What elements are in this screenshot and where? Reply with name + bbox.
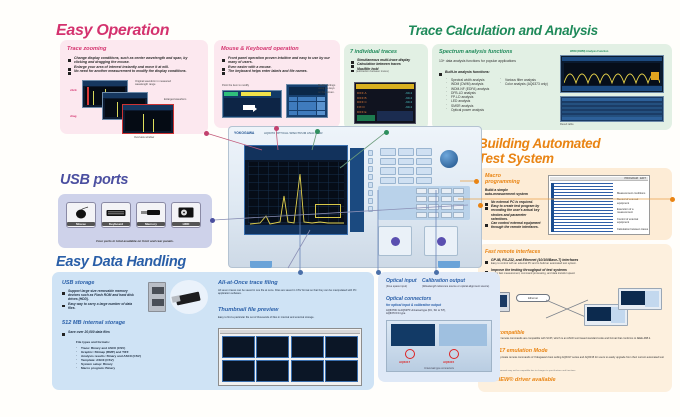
caption-modify-settings: Modify settings using the keys on the sc… <box>318 84 338 94</box>
subnote-subtraction: (subtraction between traces) <box>356 70 389 73</box>
mouse-icon <box>73 203 89 222</box>
photo-caption: Universal type connectors <box>387 367 491 370</box>
connector-dot <box>384 130 389 135</box>
screenshot-enlarged-waveform <box>122 104 174 134</box>
card-7-individual-traces: 7 individual traces Simultaneous multi-t… <box>344 44 428 130</box>
caption-overview-window: Overview window <box>134 136 154 139</box>
usb-label: Memory <box>137 222 165 226</box>
bullet: No need for another measurement to modif… <box>68 69 200 73</box>
diagram-network: Ethernet <box>484 284 668 328</box>
instrument-brand: YOKOGAWA <box>234 131 254 135</box>
section-title-easy-data-handling: Easy Data Handling <box>56 254 186 270</box>
brochure-page: Easy Operation Trace zooming Change disp… <box>0 0 680 417</box>
body-aq6317-emulation: Supports the private remote commands of … <box>485 356 665 363</box>
card-title-mouse-keyboard: Mouse & Keyboard operation <box>221 46 299 52</box>
usb-label: Keyboard <box>102 222 130 226</box>
card-title-remote-interfaces: Fast remote interfaces <box>485 249 540 255</box>
connector-dot <box>376 270 381 275</box>
bullet: Front panel operation proven intuitive a… <box>222 56 334 65</box>
section-title-usb-ports: USB ports <box>60 172 128 188</box>
calibration-output-port <box>424 226 458 256</box>
card-optical-connectors: Optical input (Free space input) Calibra… <box>378 272 500 382</box>
sub-calibration-output: (Wavelength reference source or optical … <box>422 285 492 288</box>
instrument-model: AQ6370 OPTICAL SPECTRUM ANALYZER <box>264 131 323 135</box>
connector-dot <box>274 126 279 131</box>
caption-point-item: Point the item to modify <box>222 84 249 87</box>
caption-click: click <box>70 88 77 92</box>
photo-usb-stick <box>170 280 208 314</box>
connector-dot <box>315 129 320 134</box>
code-annotation: Measurement conditions <box>617 192 649 195</box>
caption-drag: drag <box>70 114 77 118</box>
caption-original-waveform: Original waveform in measured wavelength… <box>135 80 179 87</box>
bullet: Support large size removable memory devi… <box>62 289 140 302</box>
analysis-function-list-left: Spectral width analysis WDM (DWM) analys… <box>446 78 489 112</box>
usb-icon-memory: Memory <box>136 202 166 228</box>
bat-title-line1: Building Automated <box>478 136 600 151</box>
connector-dot <box>298 270 303 275</box>
analysis-function-list-right: Various filter analysis Color analysis (… <box>500 78 548 87</box>
connectors-body-line2: AQ6373 FC type <box>386 312 496 315</box>
heading-internal-storage: 512 MB internal storage <box>62 320 125 326</box>
connector-dot <box>210 218 215 223</box>
bullet-sub: Easy to control with an external PC and … <box>491 262 665 265</box>
body-scpi: The standard remote commands are compati… <box>485 337 665 340</box>
usb-icon-mouse: Mouse <box>66 202 96 228</box>
section-title-building-automated: Building Automated Test System <box>478 136 600 166</box>
subtitle-optical-connectors: for optical input & calibration output <box>386 303 441 307</box>
usb-icon-hdd: HDD <box>171 202 201 228</box>
bullet: The keyboard helps enter labels and file… <box>222 69 334 73</box>
bullet: Save over 20,000 data files <box>62 330 146 334</box>
photo-label: AQ6315 <box>443 360 454 364</box>
usb-label: HDD <box>172 222 200 226</box>
screenshot-settings-panel <box>222 90 282 118</box>
photo-usb-slots <box>148 282 166 312</box>
osa-unit-icon <box>618 288 662 310</box>
screenshot-macro-editor: PROGRAM : EDIT Measurement conditions Co… <box>548 175 650 235</box>
bullet: Can control external equipment through t… <box>485 221 541 229</box>
list-item: Macro program: Binary <box>76 366 141 370</box>
connector-dot <box>434 270 439 275</box>
heading-optical-input: Optical input <box>386 278 417 284</box>
screenshot-trace-list: DIFF ADIFF BDIFF CFIX DDIFF E -90.4-90.4… <box>354 82 416 124</box>
code-annotation: Execution of a measurement <box>617 208 649 215</box>
note-aq6317: Note: some commands may not be compatibl… <box>485 370 665 372</box>
card-usb-ports: Mouse Keyboard Memory HDD Four <box>58 194 212 248</box>
card-title-spectrum-analysis: Spectrum analysis functions <box>439 49 512 55</box>
heading-usb-storage: USB storage <box>62 280 94 286</box>
usb-memory-icon <box>141 203 161 222</box>
rotary-knob <box>440 150 458 168</box>
heading-all-at-once: All-at-Once trace filing <box>218 280 278 286</box>
hdd-icon <box>178 203 194 222</box>
caption-enlarged-waveform: Enlarged waveform <box>164 98 200 101</box>
body-thumbnail-preview: Easy to find a particular file out of th… <box>218 316 358 319</box>
bullet: Improve the testing throughput of test s… <box>485 268 665 276</box>
list-item: Color analysis (AQ6373 only) <box>500 82 548 86</box>
section-title-easy-operation: Easy Operation <box>56 22 169 40</box>
keyboard-icon <box>106 203 126 222</box>
photo-label: AQ6317 <box>399 360 410 364</box>
connector-dot <box>474 179 479 184</box>
bullet-sub: by the fast measurement, command process… <box>491 272 665 275</box>
card-mouse-keyboard: Mouse & Keyboard operation Front panel o… <box>214 40 340 128</box>
body-all-at-once: All seven traces can be saved in one fil… <box>218 289 358 296</box>
heading-optical-connectors: Optical connectors <box>386 296 431 302</box>
optical-input-port <box>378 226 412 256</box>
bullet: Built-in analysis functions: <box>439 70 490 74</box>
heading-calibration-output: Calibration output <box>422 278 465 284</box>
macro-title-line2: programming <box>485 179 520 185</box>
card-spectrum-analysis: Spectrum analysis functions 13+ data ana… <box>432 44 672 130</box>
file-types-list: Trace: Binary and ASCII (CSV) Graphic: B… <box>76 346 141 370</box>
bullet: GP-IB, RS-232, and Ethernet (10/100Base-… <box>485 258 665 266</box>
screenshot-title-wdm: WDM (DWM) Analysis Function <box>570 50 608 53</box>
bullet: Easy way to carry a large number of data… <box>62 302 140 310</box>
code-caption: PROGRAM : EDIT <box>625 177 646 180</box>
instrument-display <box>244 145 348 235</box>
card-macro-programming: Macro programming Build a simple auto-me… <box>478 168 672 240</box>
code-annotation: Calculation between traces <box>617 228 649 231</box>
heading-file-types: File types and formats: <box>76 340 110 344</box>
caption-result-table: Result table <box>560 123 574 126</box>
usb-icon-keyboard: Keyboard <box>101 202 131 228</box>
sub-optical-input: (Free space input) <box>386 285 407 288</box>
usb-label: Mouse <box>67 222 95 226</box>
photo-connectors: AQ6317 AQ6315 Universal type connectors <box>386 320 492 372</box>
lead-text: 13+ data analysis functions for popular … <box>439 59 516 63</box>
bullet: Easy to create test program by recording… <box>485 204 541 221</box>
card-data-handling: USB storage Support large size removable… <box>52 272 374 390</box>
photo-optical-spectrum-analyzer: YOKOGAWA AQ6370 OPTICAL SPECTRUM ANALYZE… <box>228 126 482 268</box>
screenshot-wdm-waveform <box>560 55 664 93</box>
list-item: Optical power analysis <box>446 108 489 112</box>
heading-thumbnail-preview: Thumbnail file preview <box>218 307 278 313</box>
connector-dot <box>204 131 209 136</box>
code-annotation: Control of external equipment <box>617 218 649 225</box>
macro-lead-line2: auto-measurement system <box>485 192 528 196</box>
card-title-7-traces: 7 individual traces <box>350 49 397 55</box>
code-annotation: Control of external equipment <box>617 198 649 205</box>
card-fast-remote-interfaces: Fast remote interfaces GP-IB, RS-232, an… <box>478 244 672 392</box>
card-trace-zooming: Trace zooming Change display conditions,… <box>60 40 208 134</box>
bat-title-line2: Test System <box>478 151 600 166</box>
usb-footnote: Four ports in total available on front a… <box>58 239 212 243</box>
bullet: Change display conditions, such as cente… <box>68 56 200 65</box>
screenshot-result-table <box>560 96 664 122</box>
connector-dot <box>670 197 675 202</box>
connector-dot <box>478 203 483 208</box>
card-title-macro-programming: Macro programming <box>485 173 520 185</box>
card-title-trace-zooming: Trace zooming <box>67 46 106 52</box>
section-title-trace-calculation: Trace Calculation and Analysis <box>408 23 598 38</box>
screenshot-thumbnail-grid <box>218 328 362 386</box>
